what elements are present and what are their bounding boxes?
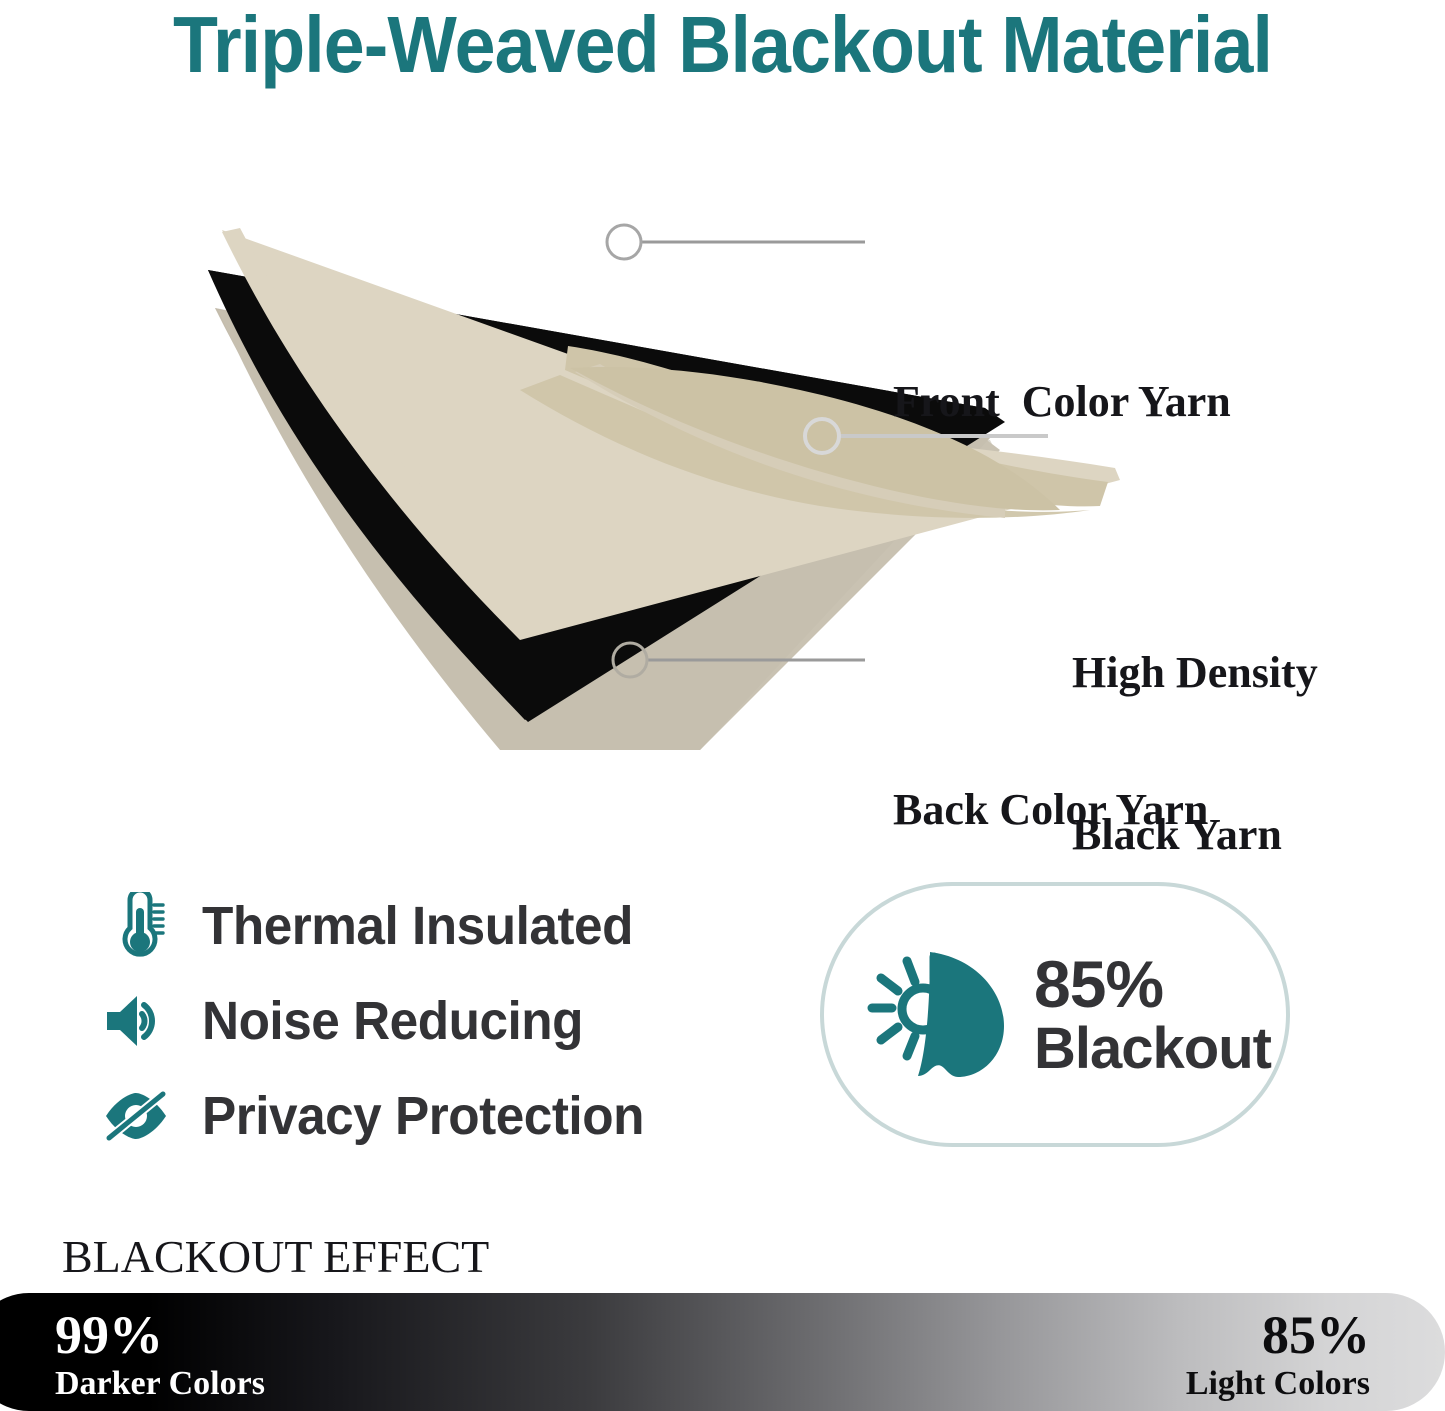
thermometer-icon: [100, 890, 172, 962]
feature-item-noise: Noise Reducing: [100, 973, 740, 1068]
blackout-badge: 85% Blackout: [820, 882, 1290, 1147]
fabric-layers-diagram: Front Color Yarn High Density Black Yarn…: [0, 150, 1445, 750]
feature-item-thermal: Thermal Insulated: [100, 878, 740, 973]
bar-right-sublabel: Light Colors: [1186, 1364, 1370, 1404]
callout-label-back: Back Color Yarn: [893, 784, 1208, 836]
marker-circle-icon: [607, 225, 641, 259]
bar-left-group: 99% Darker Colors: [55, 1306, 265, 1404]
curtain-shape: [918, 952, 1004, 1077]
feature-label-noise: Noise Reducing: [202, 991, 583, 1051]
blackout-effect-heading: BLACKOUT EFFECT: [62, 1232, 489, 1282]
bar-left-percent: 99%: [55, 1306, 265, 1364]
badge-text-group: 85% Blackout: [1034, 951, 1271, 1077]
callout-label-front: Front Color Yarn: [893, 376, 1231, 428]
badge-word: Blackout: [1034, 1019, 1271, 1078]
feature-label-privacy: Privacy Protection: [202, 1086, 644, 1146]
badge-percent: 85%: [1034, 951, 1271, 1018]
sun-blocked-by-curtain-icon: [866, 940, 1016, 1090]
feature-item-privacy: Privacy Protection: [100, 1068, 740, 1163]
bar-right-group: 85% Light Colors: [1186, 1306, 1370, 1404]
callout-front-leader: [607, 225, 865, 259]
bar-right-percent: 85%: [1186, 1306, 1370, 1364]
speaker-sound-icon: [100, 985, 172, 1057]
feature-label-thermal: Thermal Insulated: [202, 896, 633, 956]
eye-slash-icon: [100, 1080, 172, 1152]
feature-list: Thermal Insulated Noise Reducing Privacy…: [100, 878, 740, 1163]
page-title: Triple-Weaved Blackout Material: [58, 2, 1387, 88]
bar-left-sublabel: Darker Colors: [55, 1364, 265, 1404]
callout-label-black-line1: High Density: [1072, 646, 1318, 700]
